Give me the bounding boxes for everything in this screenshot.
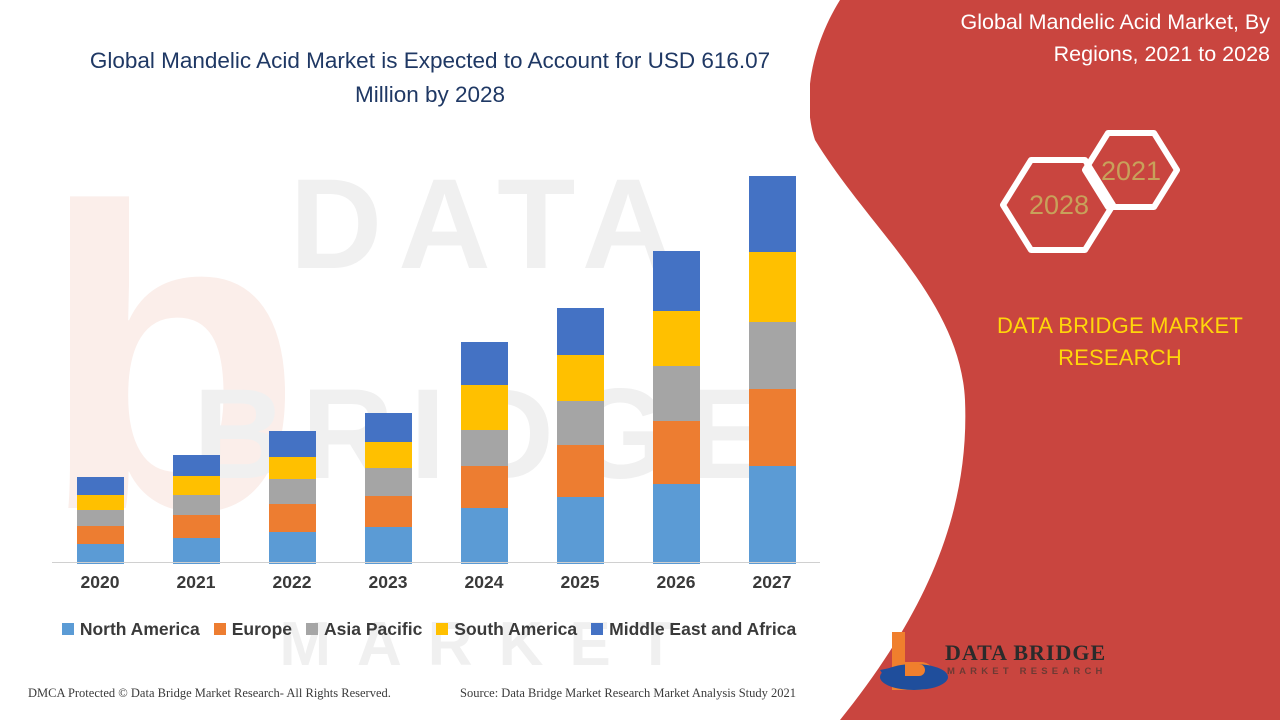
legend-label: North America [80,619,200,640]
bar-segment [653,484,700,564]
legend-label: Asia Pacific [324,619,422,640]
legend-swatch-icon [306,623,318,635]
bar-segment [173,495,220,515]
legend-swatch-icon [62,623,74,635]
legend-item[interactable]: Middle East and Africa [591,619,796,640]
bar-segment [557,401,604,445]
infographic-canvas: b DATA BRIDGE MARKET RESEARCH Global Man… [0,0,1280,720]
footer-source: Source: Data Bridge Market Research Mark… [460,686,796,701]
bar-segment [173,476,220,495]
bar-segment [461,430,508,466]
bar-segment [365,468,412,496]
bar-segment [749,389,796,466]
chart-title: Global Mandelic Acid Market is Expected … [60,44,800,112]
bar-segment [269,457,316,480]
bar-segment [653,366,700,420]
bar-2024 [461,342,508,564]
x-tick-2026: 2026 [628,572,724,593]
bar-2025 [557,308,604,564]
bar-segment [557,308,604,355]
bar-segment [269,504,316,532]
bar-2027 [749,176,796,564]
legend-label: Europe [232,619,292,640]
bar-segment [173,455,220,476]
x-tick-2025: 2025 [532,572,628,593]
bar-segment [269,479,316,504]
bar-segment [557,445,604,497]
legend-swatch-icon [436,623,448,635]
logo-b-overlay [905,664,925,676]
bar-segment [461,508,508,564]
bar-segment [557,355,604,401]
legend-item[interactable]: Europe [214,619,292,640]
x-tick-2021: 2021 [148,572,244,593]
x-tick-2020: 2020 [52,572,148,593]
legend-label: South America [454,619,577,640]
bar-2020 [77,477,124,564]
legend-item[interactable]: Asia Pacific [306,619,422,640]
bar-segment [77,526,124,544]
bar-segment [749,252,796,322]
x-tick-2024: 2024 [436,572,532,593]
bar-segment [653,421,700,484]
hexagon-2028-label: 2028 [1029,190,1089,220]
bar-segment [461,466,508,509]
bar-segment [557,497,604,564]
legend-swatch-icon [214,623,226,635]
legend-item[interactable]: North America [62,619,200,640]
bar-segment [461,385,508,429]
bar-segment [749,176,796,252]
chart-legend: North AmericaEuropeAsia PacificSouth Ame… [52,614,820,644]
logo-subtitle: MARKET RESEARCH [947,666,1107,677]
bar-segment [77,495,124,510]
bar-2022 [269,431,316,564]
legend-swatch-icon [591,623,603,635]
logo-wordmark: DATA BRIDGE [945,640,1106,666]
x-tick-2027: 2027 [724,572,820,593]
bar-segment [77,510,124,526]
x-axis-labels: 20202021202220232024202520262027 [52,572,820,602]
panel-title: Global Mandelic Acid Market, By Regions,… [880,6,1270,70]
hexagon-group: 2028 2021 [975,110,1195,290]
bar-segment [749,322,796,389]
bar-segment [365,442,412,468]
legend-item[interactable]: South America [436,619,577,640]
bar-segment [653,311,700,367]
bar-segment [173,538,220,564]
bar-2026 [653,251,700,564]
bar-segment [173,515,220,538]
x-tick-2023: 2023 [340,572,436,593]
bar-segment [77,477,124,495]
bar-segment [653,251,700,311]
bar-segment [269,431,316,457]
bar-segment [269,532,316,564]
bar-segment [365,413,412,443]
hexagon-2021-label: 2021 [1101,156,1161,186]
stacked-bar-plot [52,160,820,564]
bar-segment [365,527,412,564]
x-tick-2022: 2022 [244,572,340,593]
legend-label: Middle East and Africa [609,619,796,640]
bar-2023 [365,413,412,564]
bar-2021 [173,455,220,564]
bar-segment [365,496,412,528]
footer-copyright: DMCA Protected © Data Bridge Market Rese… [28,686,391,701]
bar-segment [461,342,508,385]
x-axis-line [52,562,820,563]
brand-name: DATA BRIDGE MARKET RESEARCH [975,310,1265,374]
bar-segment [749,466,796,564]
